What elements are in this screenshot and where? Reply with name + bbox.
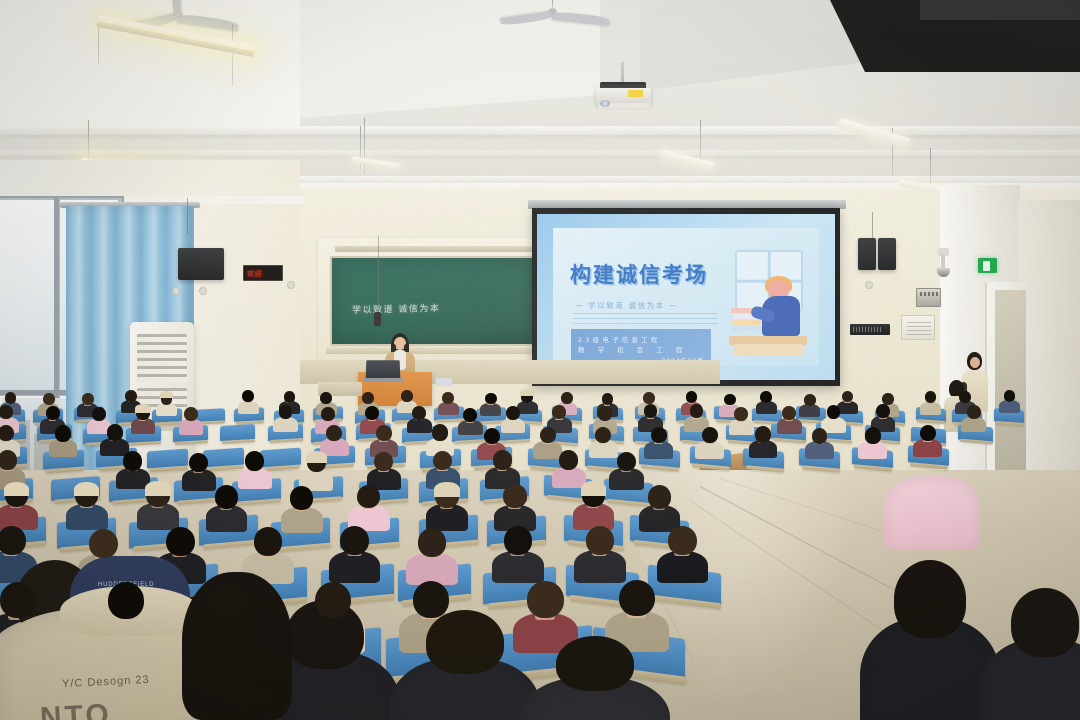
student-head xyxy=(920,425,936,441)
seated-student xyxy=(116,451,150,487)
student-head xyxy=(724,394,736,406)
seated-student xyxy=(644,427,673,457)
student-head xyxy=(1011,588,1079,657)
student-torso xyxy=(756,401,777,414)
student-torso xyxy=(156,403,177,416)
camera-mount-arm xyxy=(941,254,945,269)
baseball-cap xyxy=(581,481,606,496)
seated-student xyxy=(777,406,802,432)
student-torso xyxy=(961,417,986,433)
baseball-cap xyxy=(4,482,29,497)
seated-student xyxy=(573,483,615,527)
lamp-rod xyxy=(232,24,233,86)
student-head xyxy=(108,582,144,619)
seated-student xyxy=(100,424,129,454)
seated-student xyxy=(0,484,38,528)
seated-student xyxy=(131,406,156,432)
seated-student xyxy=(156,393,177,415)
student-head xyxy=(504,526,533,555)
microphone-cable xyxy=(378,236,379,316)
student-head xyxy=(643,392,655,404)
student-head xyxy=(432,424,448,440)
lamp-rod xyxy=(88,120,89,162)
laptop[interactable] xyxy=(366,360,401,379)
student-head xyxy=(586,526,615,555)
seated-student xyxy=(805,428,834,458)
wall-speaker xyxy=(858,238,876,270)
student-head xyxy=(374,452,393,471)
slide-illustration-student-studying xyxy=(729,250,809,358)
slide-decorative-lines xyxy=(573,313,718,326)
lecture-hall-photo: 欢迎 学以致道 诚信为本 构建诚信考场 — 学以致道 诚信为本 — 23级电子信… xyxy=(0,0,1080,720)
student-head xyxy=(540,427,556,443)
acoustic-panel-edge xyxy=(920,0,1080,20)
student-head xyxy=(46,406,60,420)
student-head xyxy=(619,580,655,617)
student-head xyxy=(315,582,351,619)
student-head xyxy=(617,452,636,471)
seated-student xyxy=(799,394,820,416)
student-head xyxy=(166,527,195,556)
student-head xyxy=(644,404,658,418)
student-head xyxy=(648,485,671,509)
seated-student xyxy=(552,450,586,486)
wall-sensor xyxy=(200,288,206,294)
student-head xyxy=(189,453,208,472)
student-head xyxy=(556,636,634,691)
wall-speaker xyxy=(178,248,224,280)
seated-student xyxy=(0,450,25,486)
student-head xyxy=(552,405,566,419)
student-head xyxy=(782,406,796,420)
baseball-cap xyxy=(434,482,459,497)
projection-screen: 构建诚信考场 — 学以致道 诚信为本 — 23级电子信息工程 教 学 班 会 工… xyxy=(537,214,835,380)
seated-student xyxy=(182,453,216,489)
wall-sensor xyxy=(288,282,294,288)
seated-student xyxy=(137,483,179,527)
led-sign-text: 欢迎 xyxy=(247,269,262,279)
seated-student xyxy=(920,391,941,413)
student-head xyxy=(184,407,198,421)
wall-panel-plate xyxy=(901,315,935,340)
foreground-student xyxy=(520,636,670,720)
seated-student xyxy=(299,453,333,489)
student-head xyxy=(215,485,238,509)
seated-student xyxy=(426,484,468,528)
student-head xyxy=(5,392,17,404)
student-head xyxy=(894,560,967,638)
student-head xyxy=(463,408,477,422)
student-head xyxy=(0,526,26,555)
student-head xyxy=(651,427,667,443)
ceiling-beam-upper xyxy=(0,126,1080,135)
presentation-slide: 构建诚信考场 — 学以致道 诚信为本 — 23级电子信息工程 教 学 班 会 工… xyxy=(553,228,819,366)
seated-student xyxy=(406,528,457,582)
student-head xyxy=(442,392,454,404)
slide-org-line-2: 教 学 班 会 工 程 xyxy=(578,344,688,354)
student-head xyxy=(245,451,264,470)
student-torso xyxy=(805,441,834,459)
lamp-rod xyxy=(930,148,931,184)
seated-student xyxy=(370,425,399,455)
baseball-cap xyxy=(74,482,99,497)
wall-equipment-strip xyxy=(850,324,890,335)
seated-student xyxy=(574,526,625,580)
baseball-cap xyxy=(135,404,151,413)
slide-subtitle: — 学以致道 诚信为本 — xyxy=(575,300,678,311)
slide-title: 构建诚信考场 xyxy=(570,265,708,286)
student-head xyxy=(211,581,247,618)
student-head xyxy=(598,406,612,420)
seated-student xyxy=(238,390,259,412)
seated-student xyxy=(320,425,349,455)
wall-control-box[interactable] xyxy=(916,288,941,307)
wall-speaker xyxy=(878,238,896,270)
student-head xyxy=(340,526,369,555)
student-head xyxy=(690,404,704,418)
student-head xyxy=(527,581,563,618)
student-head xyxy=(959,391,971,403)
seated-student xyxy=(485,450,519,486)
blackboard-chalk-text: 学以致道 诚信为本 xyxy=(352,301,441,316)
baseball-cap xyxy=(145,481,170,496)
student-head xyxy=(493,450,512,469)
student-head xyxy=(485,393,497,405)
student-head xyxy=(0,582,36,619)
student-head xyxy=(484,428,500,444)
seated-student xyxy=(961,405,986,431)
student-head xyxy=(321,407,335,421)
seated-student xyxy=(367,452,401,488)
student-head xyxy=(357,485,380,509)
student-head xyxy=(125,390,137,402)
student-head xyxy=(123,451,142,470)
student-head xyxy=(755,426,771,442)
student-head xyxy=(107,424,123,440)
student-head xyxy=(362,392,374,404)
lamp-rod xyxy=(364,118,365,174)
hanging-microphone xyxy=(374,312,381,326)
student-head xyxy=(254,527,283,556)
seated-student xyxy=(657,526,708,580)
student-head xyxy=(290,486,313,510)
student-head xyxy=(595,427,611,443)
seated-student xyxy=(858,427,887,457)
seated-student xyxy=(273,405,298,431)
student-head xyxy=(967,405,981,419)
student-head xyxy=(1004,390,1016,402)
student-head xyxy=(559,450,578,469)
seated-student xyxy=(480,393,501,415)
lamp-rod xyxy=(98,24,99,64)
student-head xyxy=(503,484,526,508)
baseball-cap xyxy=(160,391,174,398)
seated-student xyxy=(66,484,108,528)
seated-student xyxy=(492,526,543,580)
seated-student xyxy=(999,390,1020,412)
illustration-desk-front xyxy=(733,344,803,356)
slide-org-line-1: 23级电子信息工程 xyxy=(578,334,661,344)
exit-sign xyxy=(978,258,997,273)
student-head xyxy=(82,393,94,405)
foreground-student xyxy=(390,610,540,720)
student-head xyxy=(865,427,881,443)
speaker-cable xyxy=(187,198,188,234)
seated-student xyxy=(49,425,78,455)
projector-lens xyxy=(600,100,610,107)
laptop-base xyxy=(363,378,404,382)
seated-student xyxy=(179,407,204,433)
seated-student xyxy=(756,391,777,413)
seated-student xyxy=(238,451,272,487)
student-head xyxy=(426,610,504,674)
hoodie-large-text: NTO xyxy=(39,698,112,720)
seated-student xyxy=(749,426,778,456)
wall-sensor xyxy=(173,288,179,294)
student-head xyxy=(284,391,296,403)
baseball-cap xyxy=(520,389,534,396)
student-head xyxy=(320,392,332,404)
seated-student xyxy=(206,485,248,529)
ceiling-beam-mid xyxy=(0,150,1080,156)
student-head xyxy=(0,450,17,469)
student-head xyxy=(561,392,573,404)
student-head xyxy=(804,394,816,406)
papers-on-desk xyxy=(436,378,452,386)
student-head xyxy=(326,425,342,441)
student-head xyxy=(506,406,520,420)
seated-student xyxy=(913,425,942,455)
seated-student xyxy=(348,485,390,529)
seated-student xyxy=(609,452,643,488)
projector-label-sticker xyxy=(628,90,643,97)
student-head xyxy=(876,404,890,418)
student-head xyxy=(242,390,254,402)
student-head xyxy=(55,425,71,441)
led-scrolling-sign: 欢迎 xyxy=(243,265,283,281)
student-head xyxy=(401,390,413,402)
student-head xyxy=(812,428,828,444)
wall-sensor xyxy=(866,282,872,288)
student-head xyxy=(668,526,697,555)
seated-student xyxy=(329,526,380,580)
seated-student xyxy=(639,485,681,529)
student-head xyxy=(43,393,55,405)
student-head xyxy=(92,407,106,421)
student-head xyxy=(279,405,293,419)
chalk-tray xyxy=(326,347,548,354)
lamp-rod xyxy=(700,120,701,160)
student-head xyxy=(760,391,772,403)
seated-student xyxy=(426,424,455,454)
blackboard-light-strip xyxy=(335,246,540,252)
student-head xyxy=(418,528,447,557)
seated-student xyxy=(494,484,536,528)
foreground-student xyxy=(860,560,1000,720)
student-head xyxy=(376,425,392,441)
pink-jacket-student xyxy=(884,476,980,550)
seated-student xyxy=(281,486,323,530)
seated-student xyxy=(438,392,459,414)
student-head xyxy=(89,529,118,558)
student-torso xyxy=(999,400,1020,413)
baseball-cap xyxy=(306,451,327,463)
student-head xyxy=(412,406,426,420)
student-head xyxy=(413,581,449,618)
foreground-student xyxy=(980,588,1080,720)
student-head xyxy=(702,427,718,443)
seated-student xyxy=(695,427,724,457)
